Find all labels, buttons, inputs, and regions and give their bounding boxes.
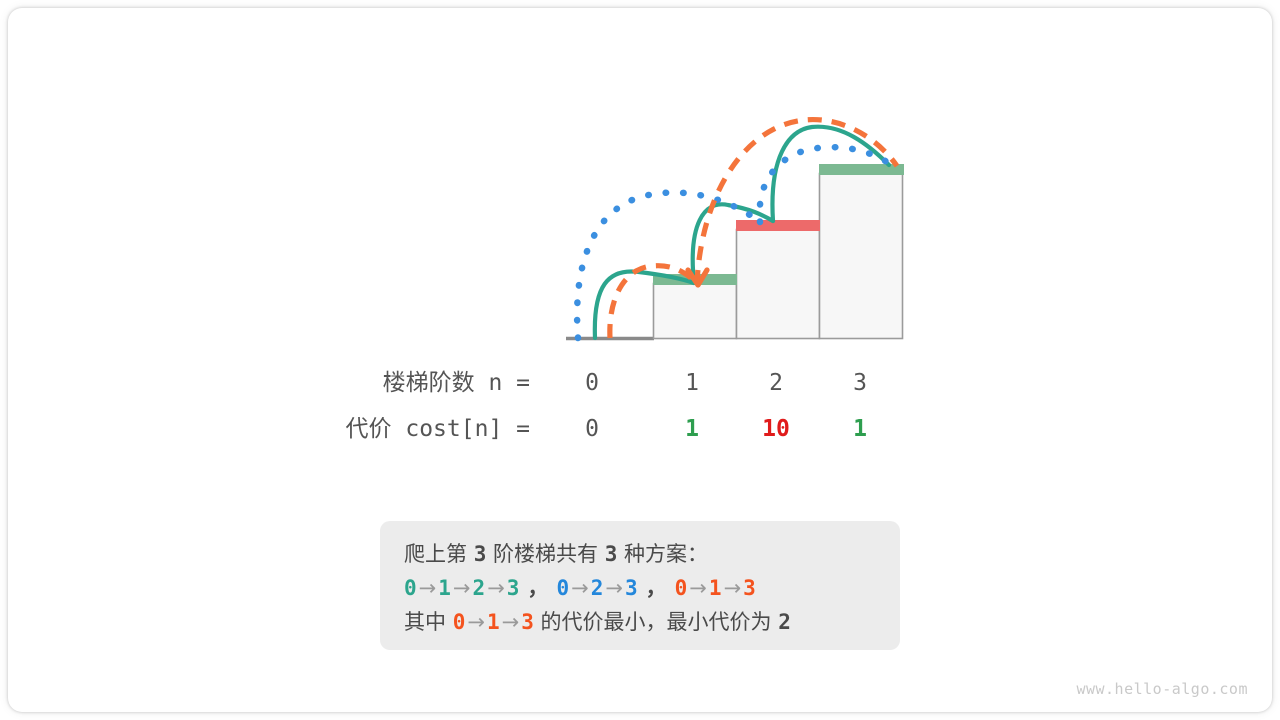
route1-arrow-0: →: [417, 576, 439, 600]
route1-node-1: 1: [438, 576, 451, 600]
route3-node-2: 3: [743, 576, 756, 600]
cell-cost-2: 10: [746, 412, 806, 446]
best-route-arrow-0: →: [465, 610, 487, 634]
route2-arrow-0: →: [569, 576, 591, 600]
caption-line-3: 其中 0→1→3 的代价最小，最小代价为 2: [404, 605, 876, 639]
watermark: www.hello-algo.com: [1076, 680, 1248, 698]
screenshot-canvas: 楼梯阶数 n = 0 1 2 3 代价 cost[n] = 0 1 10 1 爬…: [0, 0, 1280, 720]
cell-n-2: 2: [746, 366, 806, 400]
cell-n-3: 3: [830, 366, 890, 400]
route3-node-1: 1: [709, 576, 722, 600]
step-1-body: [654, 284, 737, 339]
table-row-steps: 楼梯阶数 n = 0 1 2 3: [330, 366, 890, 400]
caption-line3-middle: 的代价最小，最小代价为: [534, 610, 778, 634]
row-label-steps: 楼梯阶数 n =: [330, 366, 530, 400]
step-3-body: [820, 174, 903, 339]
route2-node-0: 0: [556, 576, 569, 600]
table-row-cost: 代价 cost[n] = 0 1 10 1: [330, 412, 890, 446]
caption-min-cost-value: 2: [778, 610, 791, 634]
cell-cost-3: 1: [830, 412, 890, 446]
route3-node-0: 0: [675, 576, 688, 600]
cell-cost-0: 0: [562, 412, 622, 446]
caption-line1-count: 3: [605, 542, 618, 566]
route3-arrow-0: →: [687, 576, 709, 600]
route2-node-2: 3: [625, 576, 638, 600]
step-2-body: [737, 230, 820, 339]
cell-cost-1: 1: [662, 412, 722, 446]
caption-box: 爬上第 3 阶楼梯共有 3 种方案： 0→1→2→3，0→2→3，0→1→3 其…: [380, 521, 900, 650]
cell-n-1: 1: [662, 366, 722, 400]
route1-arrow-1: →: [451, 576, 473, 600]
route2-arrow-1: →: [603, 576, 625, 600]
caption-line-2: 0→1→2→3，0→2→3，0→1→3: [404, 571, 876, 605]
caption-line1-part-a: 爬上第: [404, 542, 474, 566]
best-route-node-2: 3: [521, 610, 534, 634]
route1-arrow-2: →: [485, 576, 507, 600]
caption-comma-1: ，: [519, 576, 556, 600]
caption-line1-n: 3: [474, 542, 487, 566]
step-2-tread-red: [736, 220, 820, 231]
route1-node-2: 2: [473, 576, 486, 600]
route3-arrow-1: →: [722, 576, 744, 600]
caption-line3-prefix: 其中: [404, 610, 453, 634]
row-label-cost: 代价 cost[n] =: [330, 412, 530, 446]
cell-n-0: 0: [562, 366, 622, 400]
caption-line1-part-b: 阶楼梯共有: [486, 542, 604, 566]
route1-node-3: 3: [507, 576, 520, 600]
best-route-node-1: 1: [487, 610, 500, 634]
route2-node-1: 2: [591, 576, 604, 600]
caption-line1-part-c: 种方案：: [617, 542, 708, 566]
best-route-arrow-1: →: [500, 610, 522, 634]
caption-line-1: 爬上第 3 阶楼梯共有 3 种方案：: [404, 537, 876, 571]
best-route-node-0: 0: [453, 610, 466, 634]
route1-node-0: 0: [404, 576, 417, 600]
caption-comma-2: ，: [638, 576, 675, 600]
